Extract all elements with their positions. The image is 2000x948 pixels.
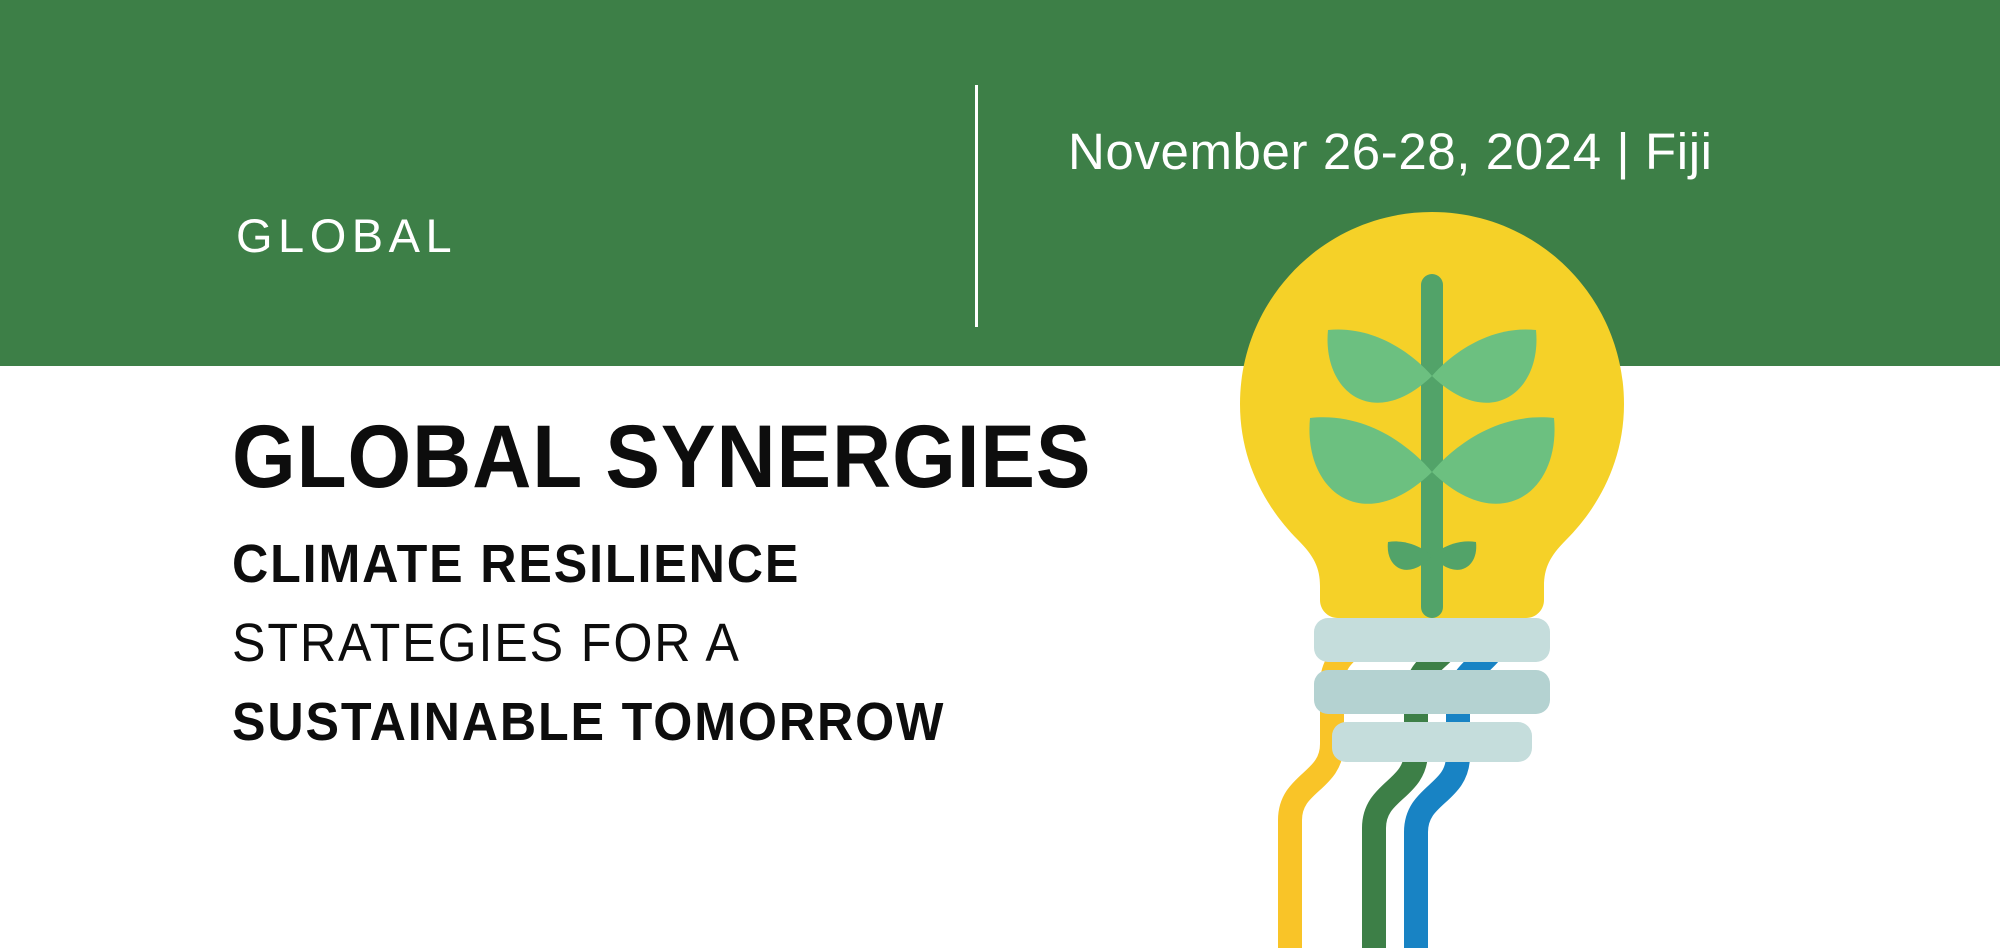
conference-banner: GLOBAL DEVELOPMENT CONFERENCE 2024 Novem… <box>0 0 2000 948</box>
subheading-sustainable-tomorrow: SUSTAINABLE TOMORROW <box>232 695 1190 749</box>
lightbulb-plant-illustration <box>1200 196 1920 948</box>
bulb-base-icon <box>1314 618 1550 762</box>
headline-block: GLOBAL SYNERGIES CLIMATE RESILIENCE STRA… <box>232 412 1262 749</box>
date-location-text: November 26-28, 2024 | Fiji <box>1068 122 1713 181</box>
conference-title-line-1: GLOBAL <box>236 207 765 264</box>
main-headline: GLOBAL SYNERGIES <box>232 412 1180 501</box>
subheading-climate-resilience: CLIMATE RESILIENCE <box>232 537 1190 591</box>
plant-stem-icon <box>1421 274 1443 618</box>
subheading-strategies-for-a: STRATEGIES FOR A <box>232 616 1190 670</box>
header-divider <box>975 85 978 327</box>
